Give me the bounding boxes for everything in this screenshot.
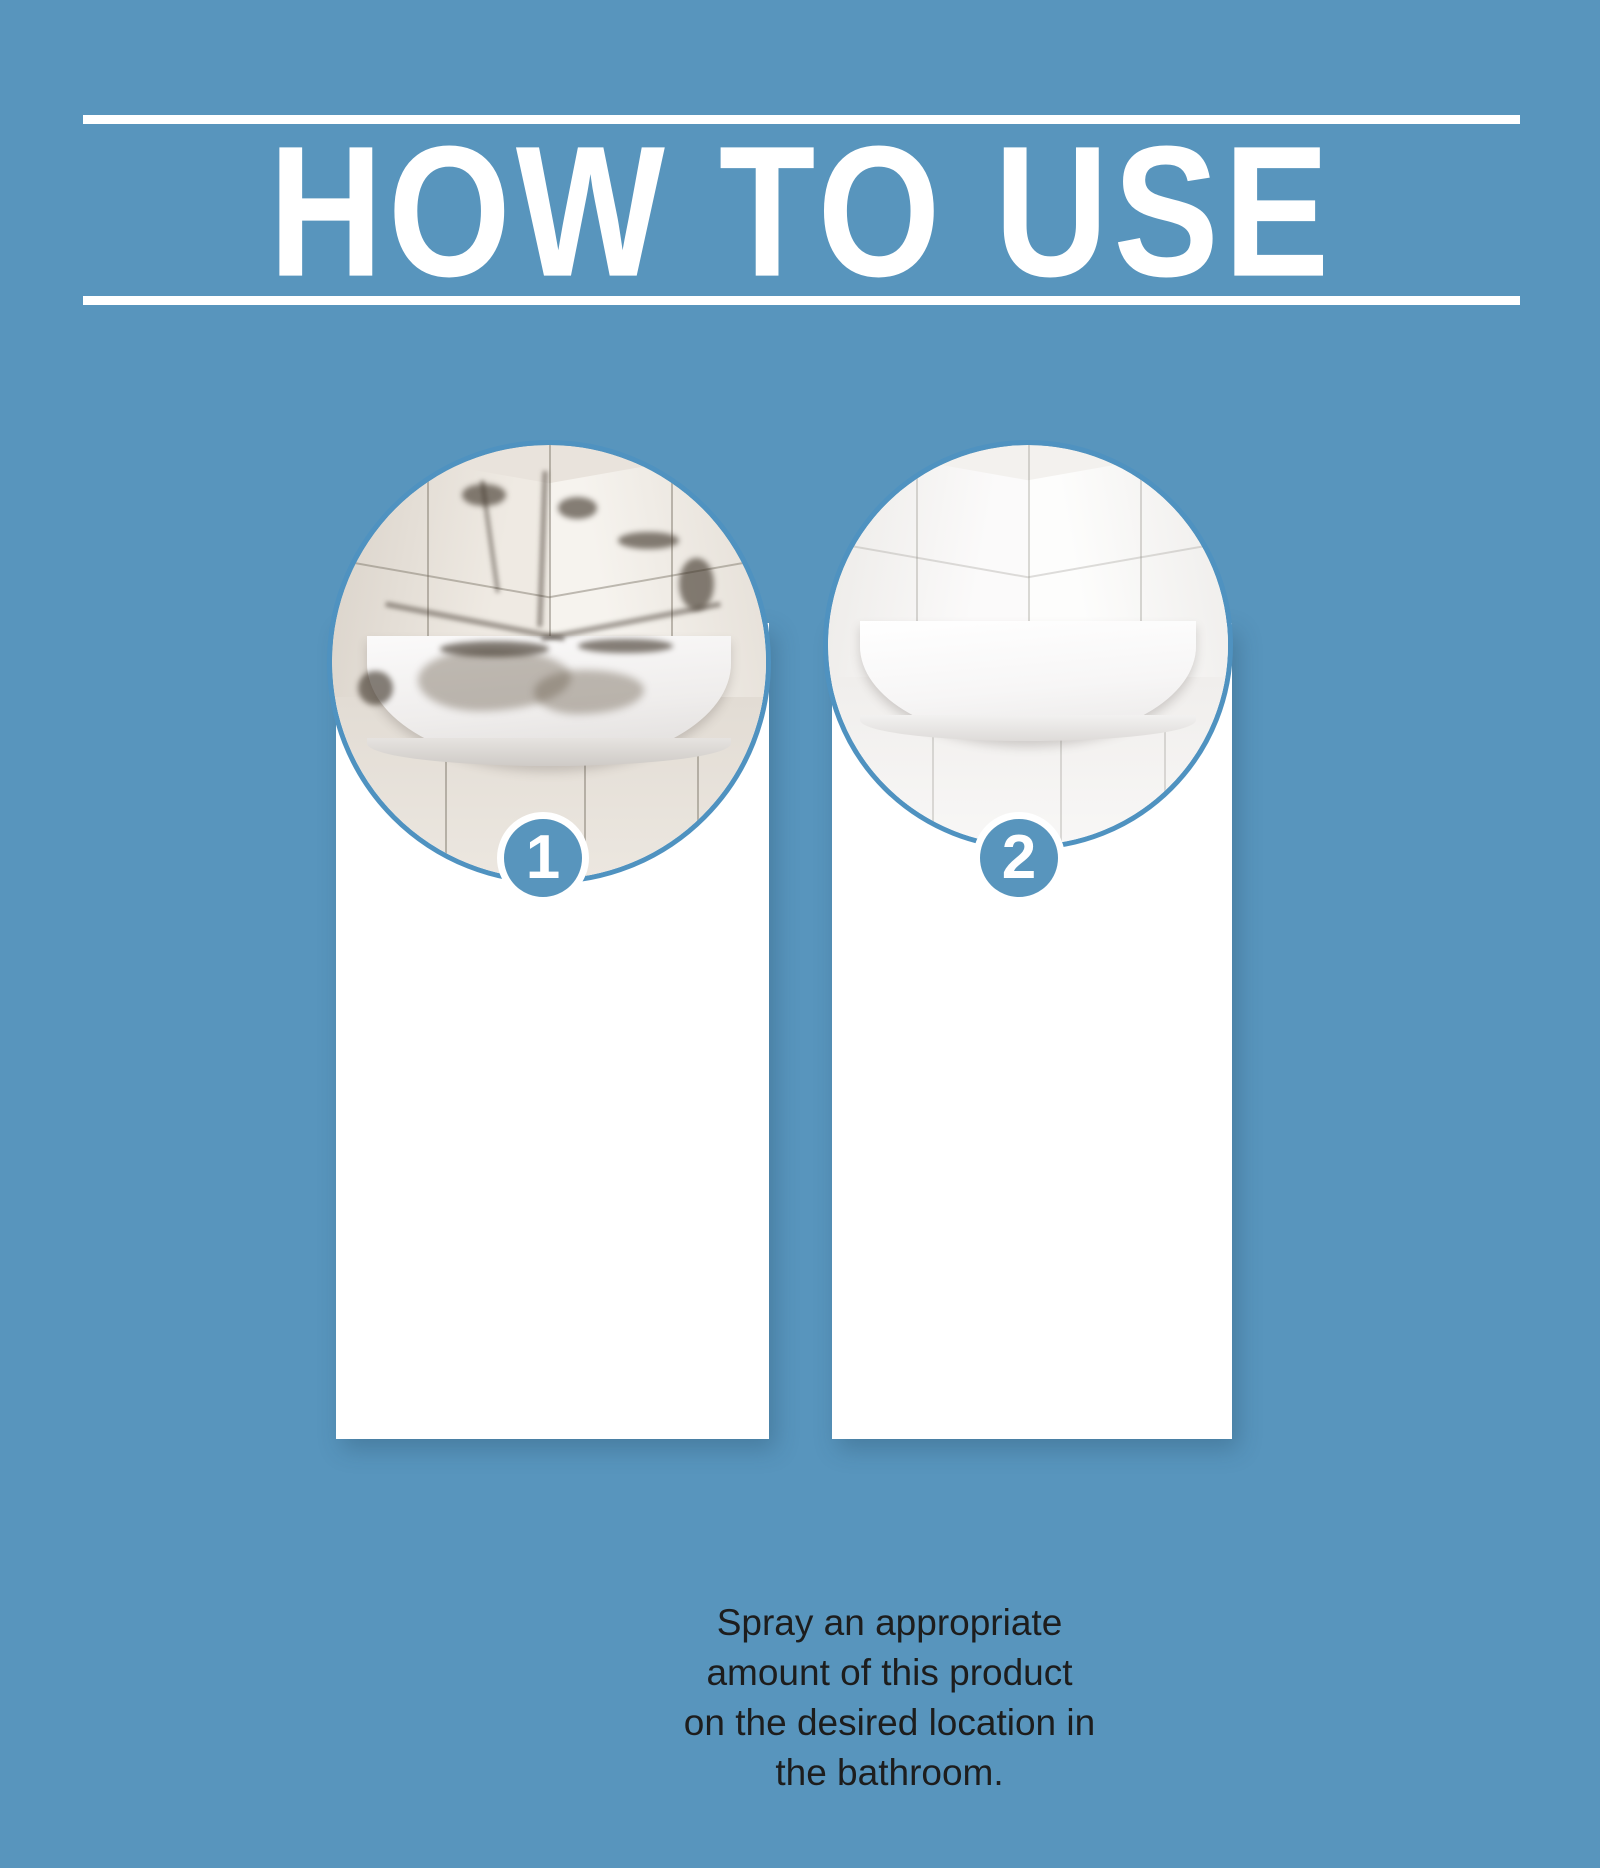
grout-line <box>1060 725 1062 845</box>
step-2-number-badge: 2 <box>973 812 1065 904</box>
corner-shelf <box>860 621 1196 741</box>
mould-spot <box>358 671 393 706</box>
grout-line <box>697 749 699 879</box>
step-2-image-inner <box>828 445 1228 845</box>
tile-wall-clean <box>828 445 1228 845</box>
step-2-image <box>823 440 1233 850</box>
corner-shelf <box>367 636 732 766</box>
grout-line <box>916 445 918 645</box>
mould-spot <box>618 532 679 549</box>
mould-spot <box>462 484 505 506</box>
grout-line <box>445 749 447 879</box>
step-1-caption: Spray an appropriate amount of this prod… <box>682 1598 1097 1798</box>
mould-spot <box>440 641 549 657</box>
grout-line <box>671 462 673 662</box>
steps-container: Spray an appropriate amount of this prod… <box>0 0 1600 1600</box>
mould-spot <box>679 558 714 610</box>
grout-line <box>427 445 429 662</box>
mould-spot <box>578 639 673 653</box>
grout-line <box>1140 461 1142 645</box>
grout-line <box>932 725 934 845</box>
mould-spot <box>558 497 597 519</box>
step-1-number-badge: 1 <box>497 812 589 904</box>
grout-line <box>1164 725 1166 845</box>
stain-patch <box>534 670 643 714</box>
grout-line <box>549 445 551 653</box>
grout-line <box>1028 445 1030 637</box>
